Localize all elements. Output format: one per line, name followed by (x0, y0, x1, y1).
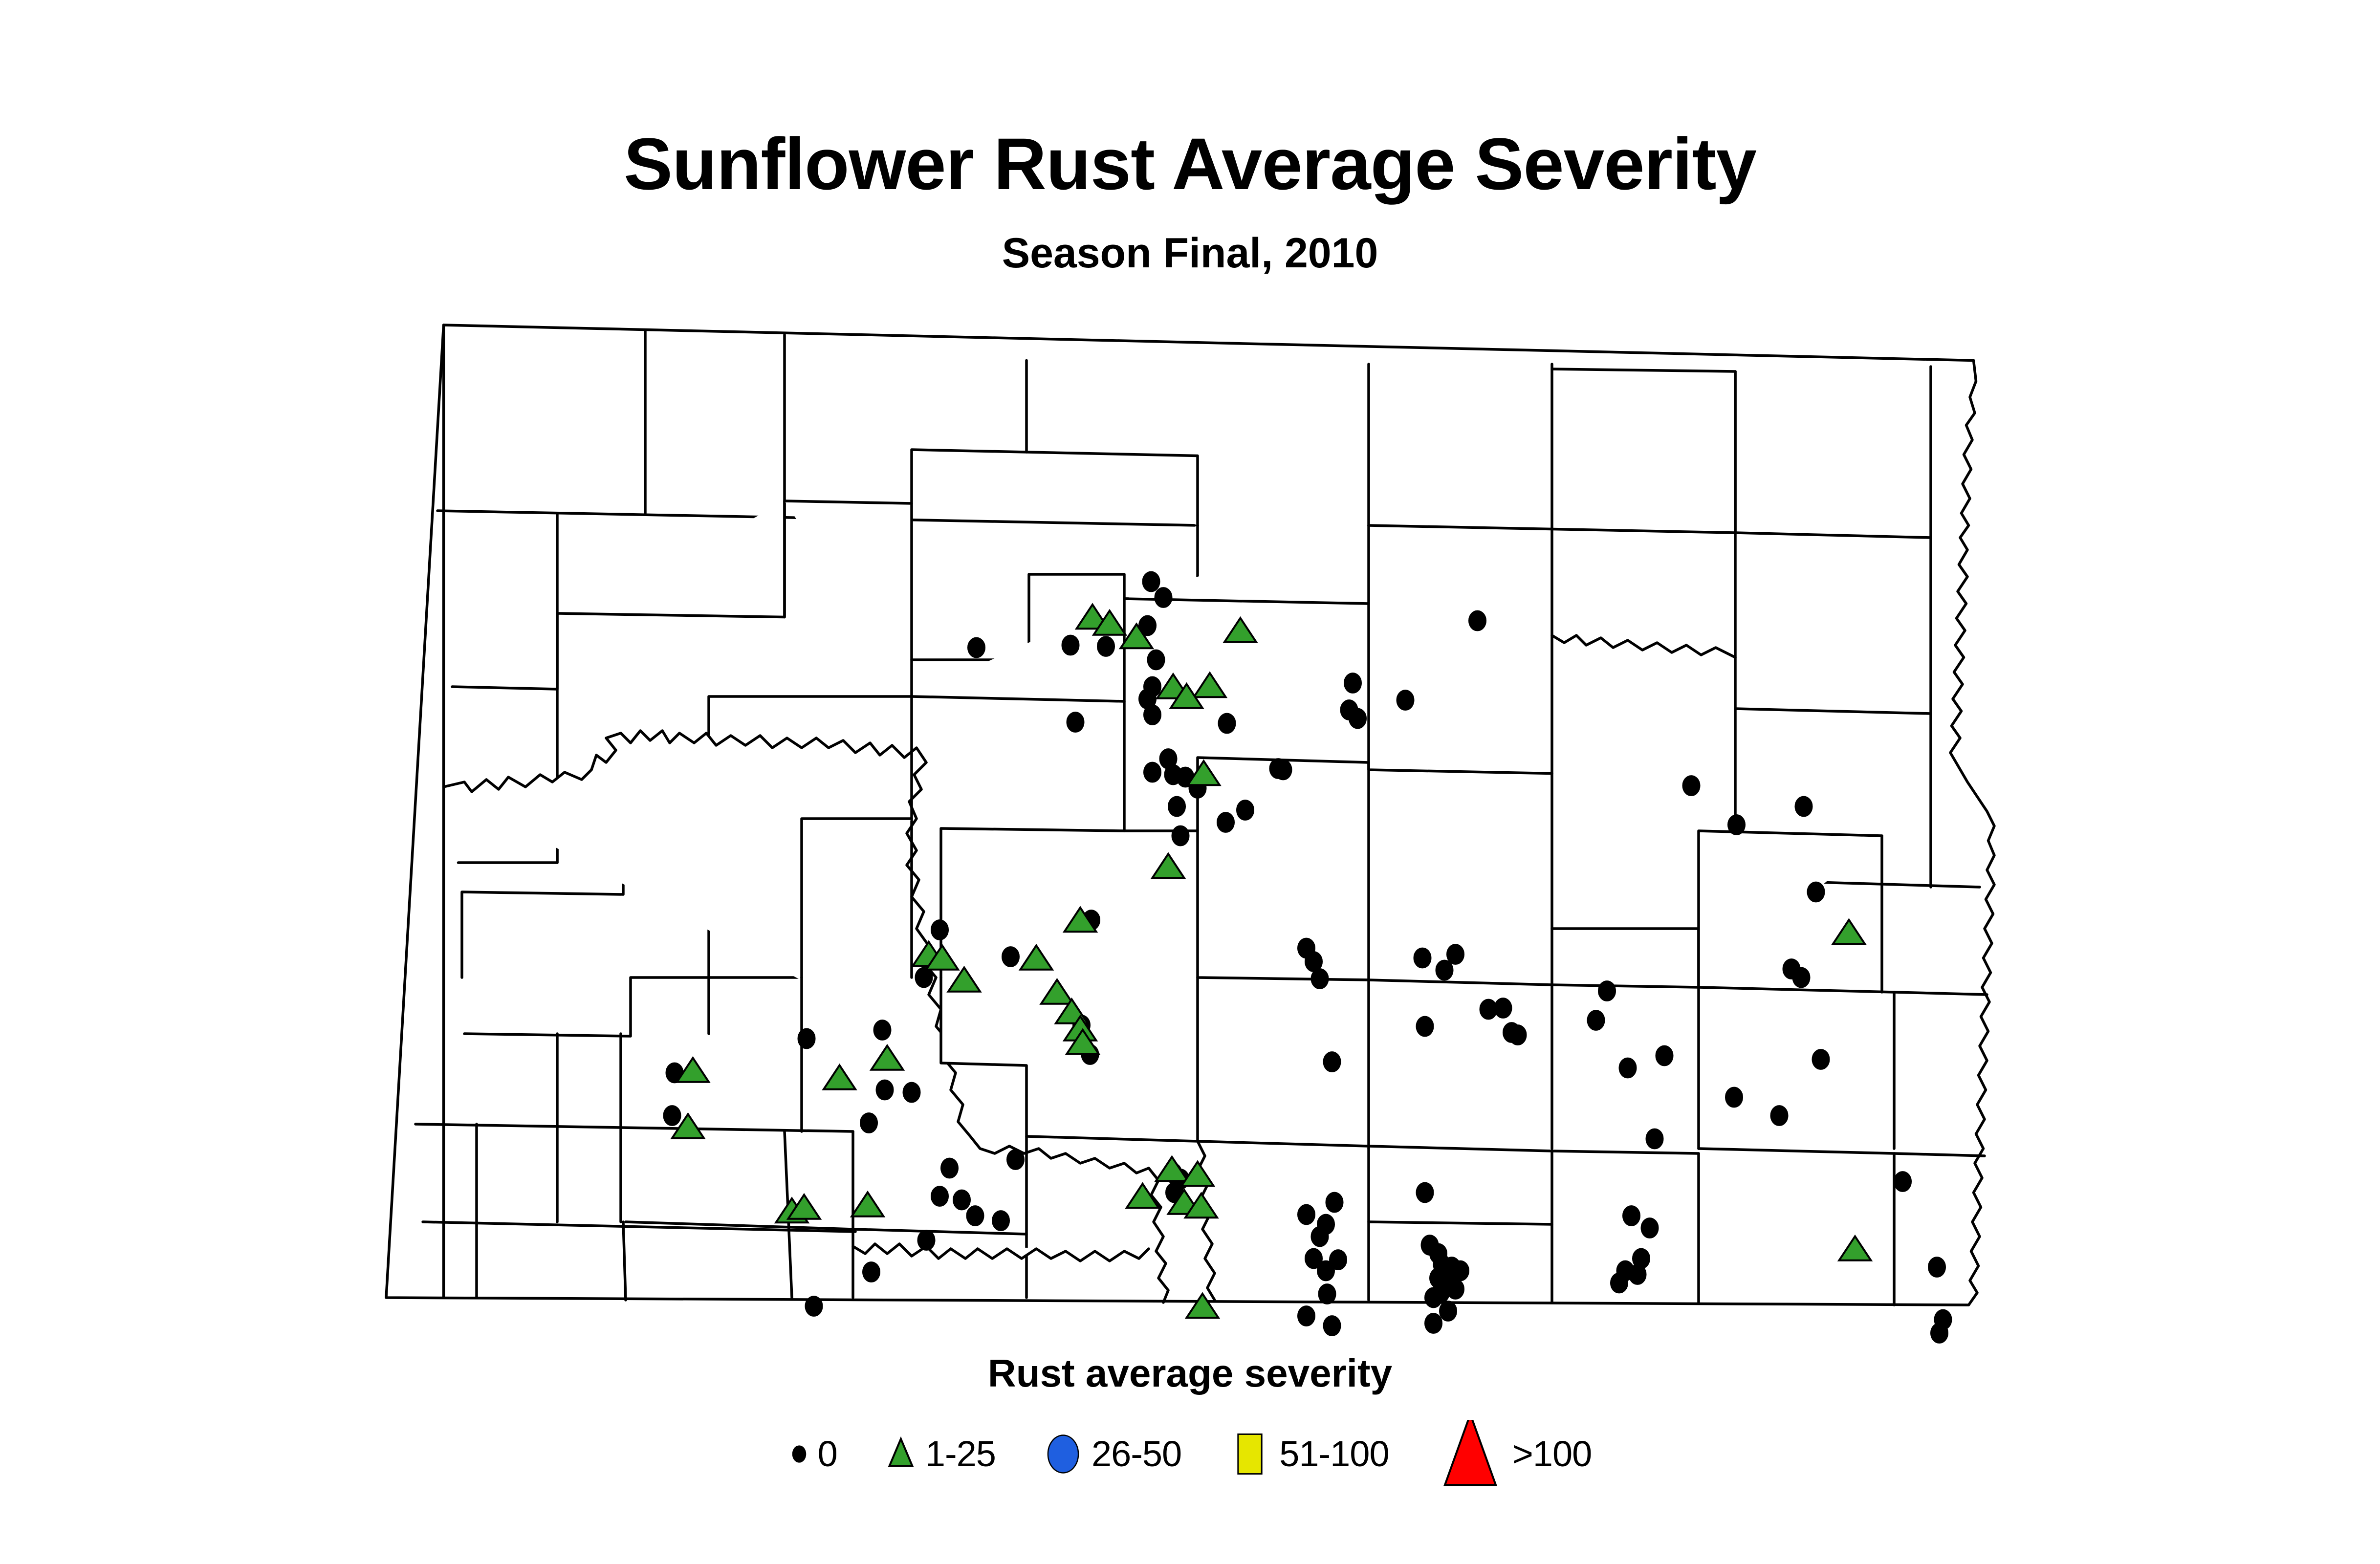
severity-marker-zero (1172, 826, 1189, 846)
severity-marker-zero (1629, 1264, 1646, 1284)
severity-marker-zero (1656, 1046, 1673, 1066)
north-dakota-county-map (342, 293, 2053, 1334)
green-triangle-marker (884, 1420, 917, 1488)
legend-item-26-50[interactable]: 26-50 (1043, 1420, 1181, 1488)
legend-item-100[interactable]: >100 (1436, 1420, 1592, 1488)
severity-marker-zero (1509, 1025, 1526, 1045)
severity-marker-zero (1142, 572, 1159, 592)
severity-marker-zero (1155, 587, 1172, 608)
severity-marker-zero (1440, 1301, 1457, 1321)
legend-title: Rust average severity (0, 1354, 2380, 1393)
severity-marker-zero (860, 1113, 877, 1133)
severity-marker-zero (1147, 650, 1164, 670)
severity-marker-zero (1139, 689, 1156, 709)
severity-marker-zero (1323, 1316, 1340, 1336)
severity-marker-zero (1237, 800, 1254, 820)
severity-marker-zero (1397, 690, 1414, 710)
severity-marker-zero (1344, 673, 1361, 693)
severity-marker-zero (876, 1080, 893, 1100)
red-triangle-marker-shape (1445, 1420, 1496, 1485)
severity-marker-zero (1425, 1313, 1442, 1333)
severity-marker-zero (1812, 1049, 1829, 1069)
legend-item-1-25[interactable]: 1-25 (884, 1420, 996, 1488)
severity-marker-zero (1598, 981, 1616, 1001)
severity-marker-zero (1494, 998, 1511, 1018)
legend-label: 1-25 (925, 1436, 996, 1472)
severity-marker-zero (931, 920, 948, 940)
severity-marker-zero (1611, 1273, 1628, 1293)
blue-circle-marker-shape (1048, 1435, 1078, 1473)
severity-marker-zero (805, 1296, 822, 1316)
yellow-square-marker-shape (1238, 1434, 1262, 1474)
severity-marker-zero (1623, 1206, 1640, 1226)
severity-marker-zero (917, 1230, 935, 1250)
severity-marker-zero (1062, 635, 1079, 655)
severity-marker-zero (863, 1262, 880, 1282)
severity-marker-zero (1416, 1183, 1433, 1203)
severity-marker-zero (1311, 1227, 1328, 1247)
severity-marker-zero (1298, 1306, 1315, 1326)
legend-label: >100 (1512, 1436, 1592, 1472)
severity-marker-zero (1682, 776, 1700, 796)
severity-marker-zero (1349, 709, 1366, 729)
severity-marker-zero (1218, 714, 1235, 734)
severity-marker-zero (1330, 1250, 1347, 1270)
severity-marker-zero (1894, 1172, 1911, 1192)
severity-marker-zero (1646, 1129, 1663, 1149)
green-triangle-marker-shape (890, 1439, 912, 1466)
severity-marker-zero (1436, 960, 1453, 980)
severity-marker-zero (966, 1206, 983, 1226)
severity-marker-zero (953, 1190, 970, 1210)
severity-marker-zero (1725, 1087, 1743, 1108)
legend-item-0[interactable]: 0 (788, 1420, 837, 1488)
severity-marker-zero (1425, 1288, 1442, 1308)
severity-marker-zero (1311, 969, 1328, 989)
filled-circle-marker (788, 1420, 810, 1488)
severity-marker-zero (931, 1186, 948, 1206)
map-figure: Sunflower Rust Average Severity Season F… (0, 0, 2380, 1564)
severity-marker-zero (1067, 712, 1084, 732)
severity-marker-zero (1269, 759, 1287, 779)
severity-marker-zero (1447, 944, 1464, 964)
legend-label: 51-100 (1279, 1436, 1389, 1472)
severity-marker-zero (1416, 1017, 1433, 1037)
severity-marker-zero (1641, 1218, 1658, 1238)
severity-marker-zero (1728, 815, 1745, 835)
severity-marker-zero (1323, 1052, 1340, 1072)
severity-marker-zero (1928, 1257, 1945, 1277)
severity-marker-zero (1587, 1010, 1604, 1030)
map-svg (342, 293, 2053, 1334)
severity-marker-zero (663, 1106, 680, 1126)
red-triangle-marker (1436, 1420, 1505, 1488)
severity-marker-zero (1007, 1150, 1024, 1170)
severity-marker-zero (1168, 797, 1185, 817)
legend-label: 26-50 (1092, 1436, 1181, 1472)
severity-marker-zero (798, 1029, 815, 1049)
severity-marker-zero (968, 638, 985, 658)
severity-marker-zero (1807, 882, 1824, 902)
severity-marker-zero (1318, 1284, 1335, 1304)
severity-marker-zero (941, 1158, 958, 1178)
severity-marker-zero (1792, 968, 1810, 988)
filled-circle-marker-shape (792, 1445, 806, 1462)
severity-marker-zero (873, 1020, 891, 1040)
severity-marker-zero (1931, 1323, 1948, 1343)
page-title: Sunflower Rust Average Severity (0, 127, 2380, 200)
severity-marker-zero (1795, 797, 1812, 817)
page-subtitle: Season Final, 2010 (0, 232, 2380, 274)
severity-marker-zero (992, 1211, 1009, 1231)
severity-marker-zero (1619, 1058, 1636, 1078)
county-boundaries (386, 325, 1994, 1305)
legend-label: 0 (818, 1436, 837, 1472)
severity-marker-zero (1770, 1106, 1788, 1126)
severity-marker-zero (1326, 1193, 1343, 1213)
severity-marker-zero (1144, 762, 1161, 782)
severity-marker-zero (903, 1083, 920, 1103)
severity-marker-zero (1298, 1205, 1315, 1225)
severity-marker-zero (1447, 1279, 1464, 1299)
severity-marker-zero (1414, 948, 1431, 968)
severity-marker-zero (1002, 947, 1019, 967)
severity-marker-zero (1217, 812, 1234, 832)
blue-circle-marker (1043, 1420, 1084, 1488)
legend: 01-2526-5051-100>100 (0, 1417, 2380, 1491)
yellow-square-marker (1228, 1420, 1271, 1488)
severity-marker-zero (1469, 611, 1486, 631)
severity-marker-zero (1097, 636, 1114, 656)
legend-item-51-100[interactable]: 51-100 (1228, 1420, 1389, 1488)
